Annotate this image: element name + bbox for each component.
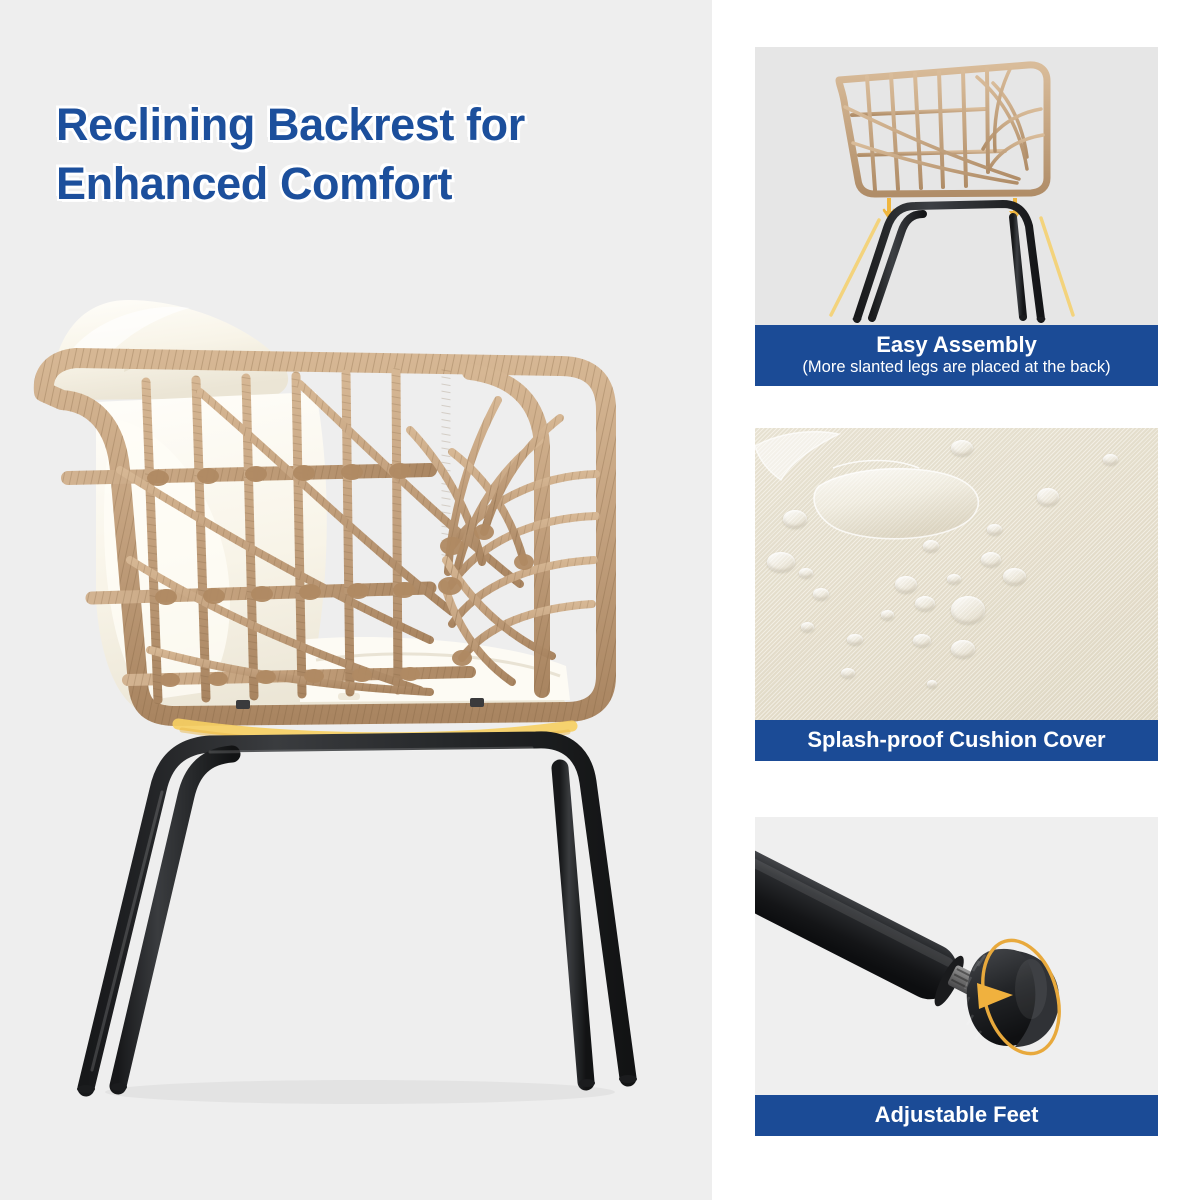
assembly-caption-subtitle: (More slanted legs are placed at the bac… [759,358,1154,377]
water-droplet [783,510,807,528]
water-droplet [881,610,894,620]
water-droplet [1037,488,1059,506]
water-droplet [1103,454,1118,465]
assembly-caption: Easy Assembly (More slanted legs are pla… [755,325,1158,386]
water-droplet [801,622,814,632]
water-droplet [895,576,917,593]
hero-panel: Reclining Backrest for Enhanced Comfort [0,0,712,1200]
water-droplet [847,634,863,645]
water-droplet [913,634,931,647]
water-droplet [981,552,1001,567]
splash-caption-title: Splash-proof Cushion Cover [759,727,1154,752]
feature-card-assembly[interactable]: Easy Assembly (More slanted legs are pla… [755,47,1158,386]
seat-cushion [96,392,572,716]
feet-caption-title: Adjustable Feet [759,1102,1154,1127]
adjustable-feet-photo [755,817,1158,1095]
water-droplet [841,668,855,678]
water-droplet [923,540,939,552]
assembly-illustration [755,47,1158,325]
water-droplet [767,552,795,572]
feature-card-feet[interactable]: Adjustable Feet [755,817,1158,1136]
feature-card-splash[interactable]: Splash-proof Cushion Cover [755,428,1158,761]
infographic-canvas: Reclining Backrest for Enhanced Comfort [0,0,1200,1200]
water-droplet [927,680,937,688]
water-droplet [951,596,985,624]
chair-product-image [0,0,712,1200]
chair-legs [86,740,628,1088]
splash-caption: Splash-proof Cushion Cover [755,720,1158,761]
water-droplet [951,440,973,456]
water-droplet [1003,568,1026,585]
assembly-caption-title: Easy Assembly [759,332,1154,357]
feet-caption: Adjustable Feet [755,1095,1158,1136]
splash-proof-photo [755,428,1158,720]
water-droplet [987,524,1002,535]
water-droplet [951,640,975,658]
water-droplet [915,596,935,611]
water-droplet [947,574,961,584]
water-droplet [799,568,813,578]
water-droplet [813,588,829,600]
